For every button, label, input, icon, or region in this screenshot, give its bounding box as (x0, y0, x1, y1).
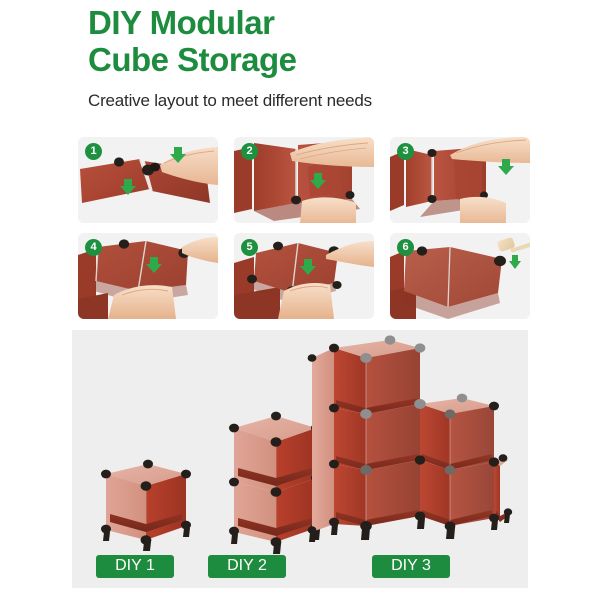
diy-2-label: DIY 2 (208, 555, 286, 578)
page-title-line-2: Cube Storage (88, 41, 548, 78)
step-badge-5: 5 (241, 239, 258, 256)
step-badge-1: 1 (85, 143, 102, 160)
step-badge-2: 2 (241, 143, 258, 160)
diy-3-label: DIY 3 (372, 555, 450, 578)
step-badge-4: 4 (85, 239, 102, 256)
step-badge-6: 6 (397, 239, 414, 256)
header: DIY Modular Cube Storage Creative layout… (88, 4, 548, 111)
infographic-page: DIY Modular Cube Storage Creative layout… (0, 0, 600, 600)
diy-unit-3 (304, 336, 508, 550)
step-panel-6: 6 (390, 233, 530, 319)
assembly-steps-grid: 1 (78, 137, 530, 319)
diy-1-cube-illustration (96, 452, 196, 548)
configuration-showcase: DIY 1 (72, 330, 528, 588)
diy-unit-1 (96, 452, 196, 548)
step-panel-3: 3 (390, 137, 530, 223)
page-title-line-1: DIY Modular (88, 4, 548, 41)
step-panel-4: 4 (78, 233, 218, 319)
step-panel-5: 5 (234, 233, 374, 319)
page-subtitle: Creative layout to meet different needs (88, 91, 548, 111)
step-badge-3: 3 (397, 143, 414, 160)
diy-3-staircase-illustration (304, 336, 508, 550)
step-panel-2: 2 (234, 137, 374, 223)
diy-1-label: DIY 1 (96, 555, 174, 578)
step-panel-1: 1 (78, 137, 218, 223)
